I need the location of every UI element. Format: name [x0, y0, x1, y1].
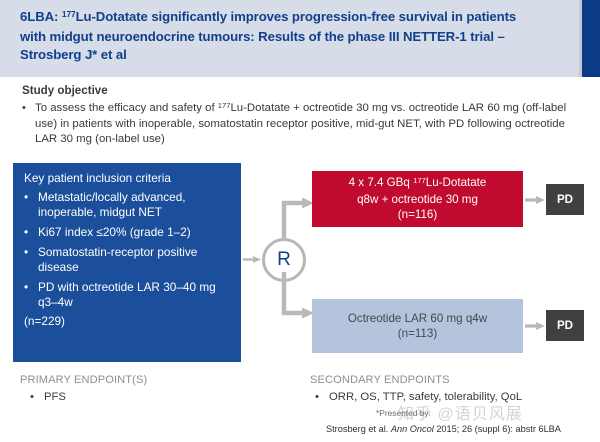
primary-endpoints-heading: PRIMARY ENDPOINT(S): [20, 374, 147, 386]
bullet-glyph: •: [24, 280, 38, 310]
title-isotope-superscript: 177: [62, 9, 76, 19]
arrow-to-pd-bottom-icon: [525, 322, 545, 330]
arrow-to-pd-top-icon: [525, 196, 545, 204]
outcome-pd-bottom: PD: [546, 310, 584, 341]
experimental-arm-line2: q8w + octreotide 30 mg: [357, 193, 478, 206]
experimental-arm-line1-part1: 4 x 7.4 GBq: [349, 176, 413, 189]
experimental-arm-line1-part2: Lu-Dotatate: [426, 176, 487, 189]
bullet-glyph: •: [24, 245, 38, 275]
control-arm-box: Octreotide LAR 60 mg q4w (n=113): [312, 299, 523, 353]
citation-reference: Strosberg et al. Ann Oncol 2015; 26 (sup…: [326, 424, 561, 434]
primary-endpoint-item: • PFS: [30, 391, 66, 403]
bullet-glyph: •: [315, 391, 329, 403]
objective-text-part1: To assess the efficacy and safety of: [35, 102, 218, 114]
slide-canvas: 6LBA: 177Lu-Dotatate significantly impro…: [0, 0, 600, 442]
title-rest: Lu-Dotatate significantly improves progr…: [20, 9, 516, 62]
bullet-glyph: •: [22, 101, 35, 148]
citation-details: 2015; 26 (suppl 6): abstr 6LBA: [434, 424, 561, 434]
citation-authors: Strosberg et al.: [326, 424, 391, 434]
criteria-item-text: Ki67 index ≤20% (grade 1–2): [38, 225, 191, 240]
criteria-heading: Key patient inclusion criteria: [24, 170, 232, 186]
primary-endpoint-text: PFS: [44, 391, 66, 403]
criteria-item-text: PD with octreotide LAR 30–40 mg q3–4w: [38, 280, 232, 310]
key-inclusion-criteria-box: Key patient inclusion criteria • Metasta…: [13, 163, 241, 362]
objective-text: To assess the efficacy and safety of 177…: [35, 101, 577, 148]
experimental-arm-isotope-superscript: 177: [413, 176, 426, 185]
outcome-pd-top: PD: [546, 184, 584, 215]
criteria-sample-size: (n=229): [24, 314, 232, 328]
objective-isotope-superscript: 177: [218, 101, 231, 110]
list-item: • Ki67 index ≤20% (grade 1–2): [24, 225, 232, 240]
control-arm-text: Octreotide LAR 60 mg q4w (n=113): [348, 311, 487, 342]
citation-journal: Ann Oncol: [391, 424, 434, 434]
page-title: 6LBA: 177Lu-Dotatate significantly impro…: [20, 8, 525, 65]
control-arm-sample-size: (n=113): [398, 327, 437, 340]
arrow-to-randomisation-icon: [243, 256, 261, 263]
criteria-list: • Metastatic/locally advanced, inoperabl…: [24, 190, 232, 310]
list-item: • Somatostatin-receptor positive disease: [24, 245, 232, 275]
list-item: • Metastatic/locally advanced, inoperabl…: [24, 190, 232, 220]
study-objective-heading: Study objective: [22, 84, 108, 97]
bullet-glyph: •: [24, 225, 38, 240]
study-objective-body: • To assess the efficacy and safety of 1…: [22, 101, 577, 148]
experimental-arm-text: 4 x 7.4 GBq 177Lu-Dotatate q8w + octreot…: [349, 175, 487, 223]
control-arm-line1: Octreotide LAR 60 mg q4w: [348, 312, 487, 325]
experimental-arm-sample-size: (n=116): [398, 208, 437, 221]
criteria-item-text: Somatostatin-receptor positive disease: [38, 245, 232, 275]
criteria-item-text: Metastatic/locally advanced, inoperable,…: [38, 190, 232, 220]
secondary-endpoint-text: ORR, OS, TTP, safety, tolerability, QoL: [329, 391, 522, 403]
secondary-endpoint-item: • ORR, OS, TTP, safety, tolerability, Qo…: [315, 391, 522, 403]
presented-by-note: *Presented by:: [376, 408, 431, 418]
experimental-arm-box: 4 x 7.4 GBq 177Lu-Dotatate q8w + octreot…: [312, 171, 523, 227]
title-prefix: 6LBA:: [20, 9, 62, 24]
list-item: • PD with octreotide LAR 30–40 mg q3–4w: [24, 280, 232, 310]
bullet-glyph: •: [24, 190, 38, 220]
objective-bullet-row: • To assess the efficacy and safety of 1…: [22, 101, 577, 148]
header-accent-bar: [582, 0, 600, 77]
secondary-endpoints-heading: SECONDARY ENDPOINTS: [310, 374, 450, 386]
bullet-glyph: •: [30, 391, 44, 403]
